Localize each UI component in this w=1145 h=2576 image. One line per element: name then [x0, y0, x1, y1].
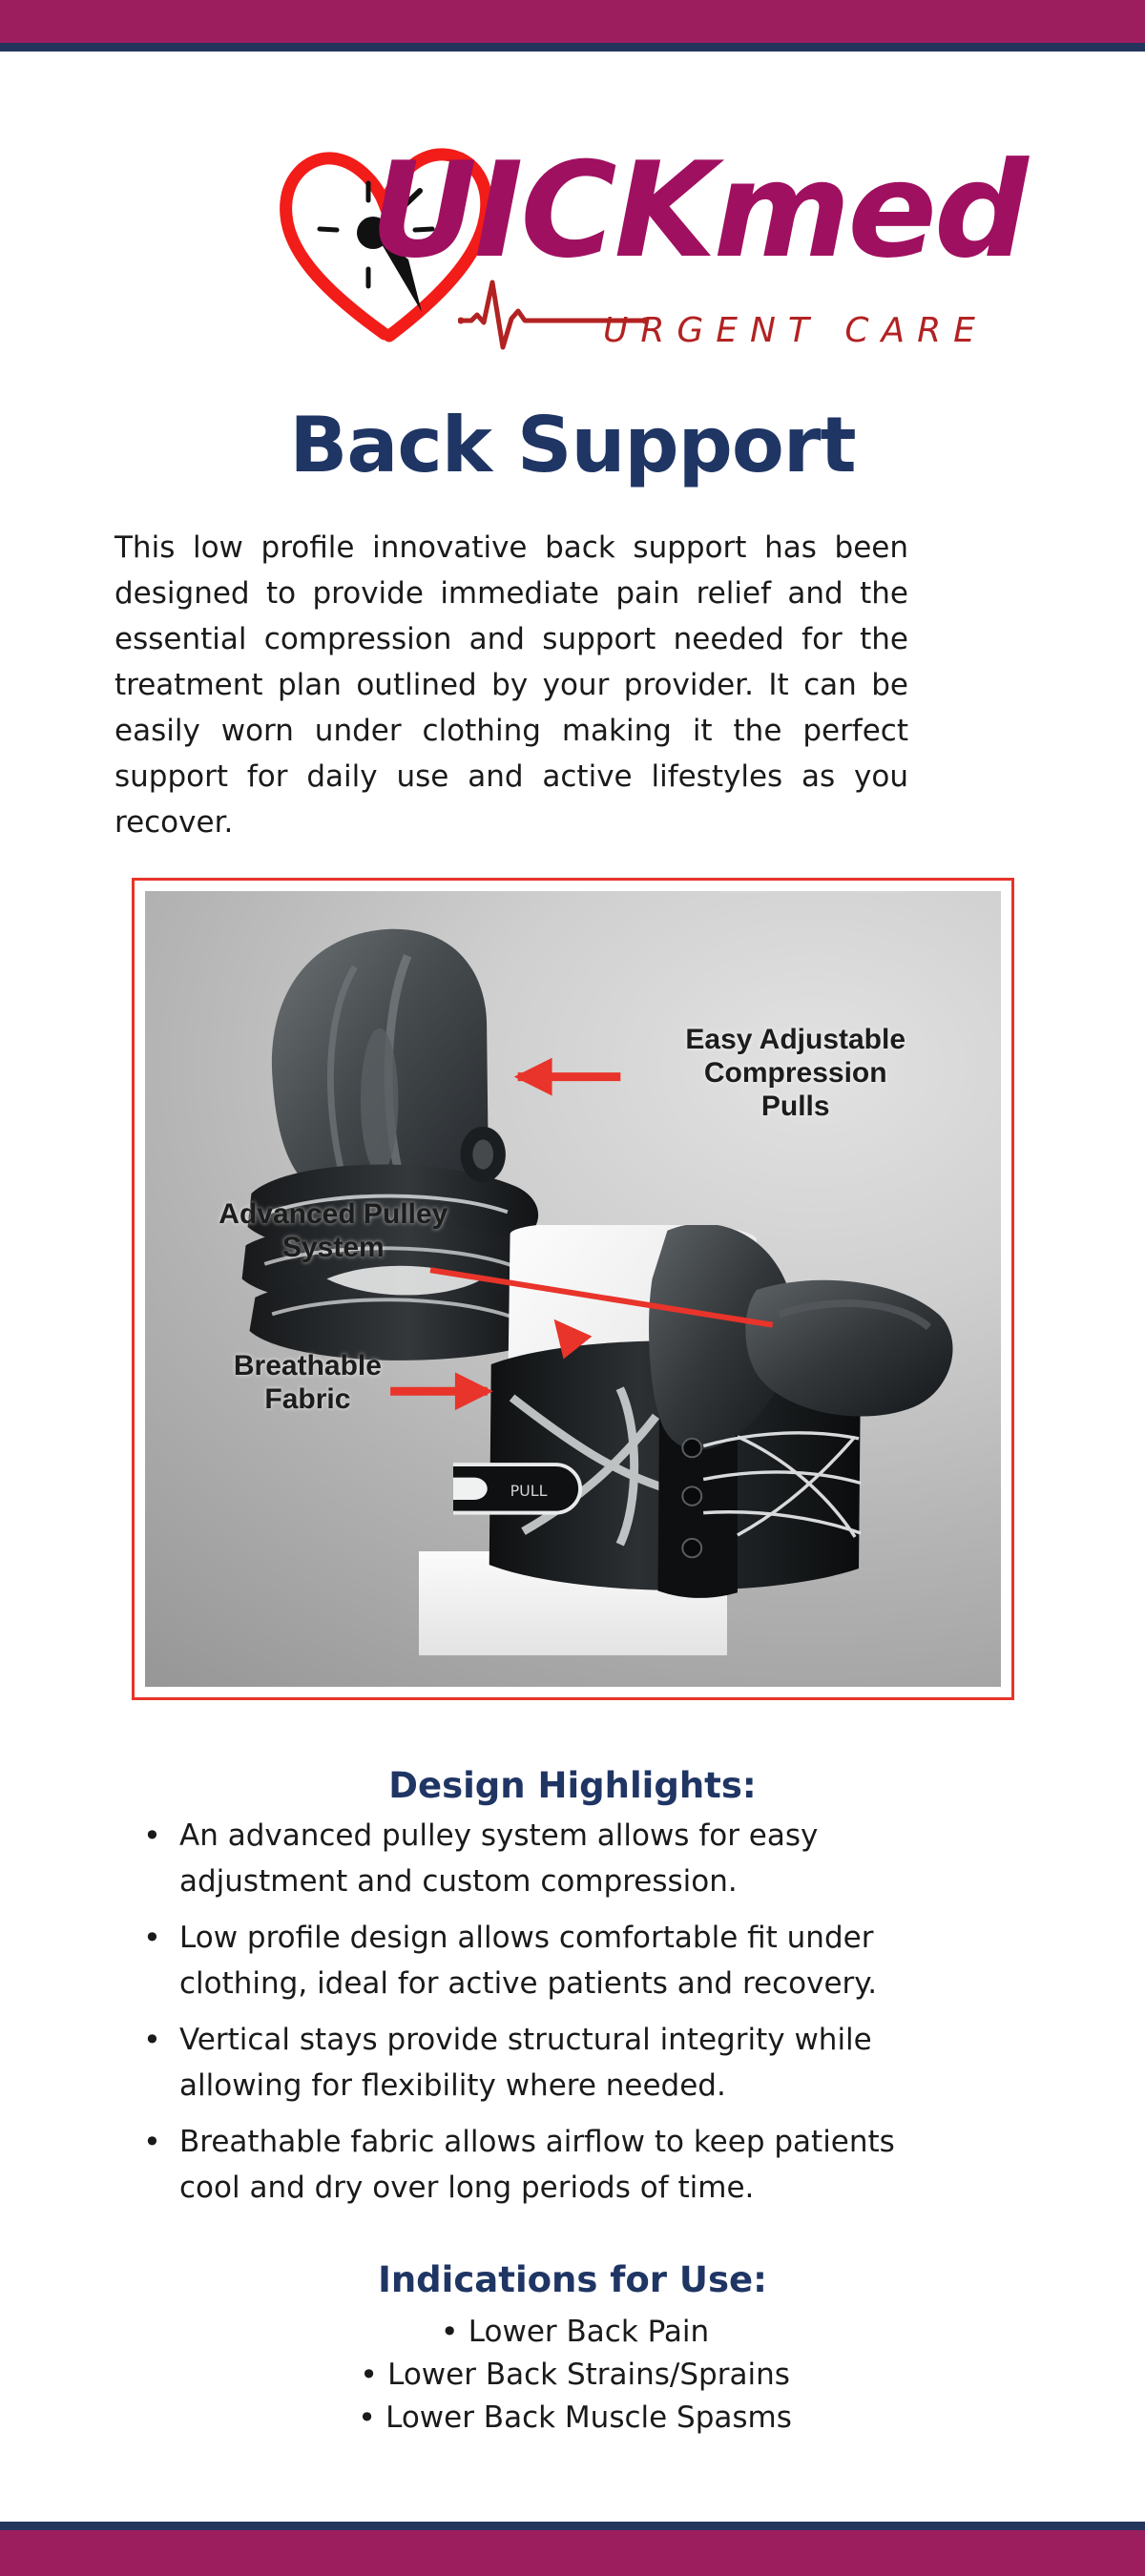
- footer-brand-bar-navy: [0, 2522, 1145, 2530]
- list-item: Low profile design allows comfortable fi…: [134, 1915, 954, 2006]
- logo-wordmark-upper: UICK: [370, 134, 714, 287]
- logo: UICKmed URGENT CARE: [0, 134, 1145, 363]
- product-image: PULL Easy Adjustable Compression Pulls A…: [145, 891, 1001, 1687]
- page-title: Back Support: [0, 401, 1145, 489]
- logo-tagline: URGENT CARE: [603, 311, 988, 350]
- brace-worn-illustration: PULL: [453, 1225, 984, 1671]
- annotation-line: Compression: [704, 1057, 887, 1089]
- footer-brand-bar-magenta: [0, 2530, 1145, 2576]
- list-item-label: Lower Back Pain: [436, 2311, 709, 2354]
- list-item: Lower Back Strains/Sprains: [0, 2354, 1145, 2397]
- product-image-frame: PULL Easy Adjustable Compression Pulls A…: [132, 878, 1014, 1700]
- logo-wordmark: UICKmed: [370, 145, 1026, 277]
- annotation-breathable-fabric: Breathable Fabric: [171, 1349, 445, 1417]
- annotation-line: Easy Adjustable: [685, 1024, 906, 1055]
- design-highlights-list: An advanced pulley system allows for eas…: [134, 1813, 954, 2221]
- list-item-label: Lower Back Muscle Spasms: [353, 2397, 792, 2440]
- design-highlights-heading: Design Highlights:: [0, 1765, 1145, 1806]
- list-item: Breathable fabric allows airflow to keep…: [134, 2119, 954, 2211]
- indications-heading: Indications for Use:: [0, 2259, 1145, 2300]
- header-brand-bar-magenta: [0, 0, 1145, 43]
- list-item-label: Lower Back Strains/Sprains: [355, 2354, 790, 2397]
- header-brand-bar-navy: [0, 43, 1145, 52]
- list-item: An advanced pulley system allows for eas…: [134, 1813, 954, 1904]
- annotation-line: Pulls: [761, 1091, 830, 1122]
- annotation-line: Fabric: [264, 1383, 350, 1415]
- list-item: Lower Back Pain: [0, 2311, 1145, 2354]
- annotation-line: Breathable: [234, 1350, 382, 1381]
- annotation-compression-pulls: Easy Adjustable Compression Pulls: [624, 1023, 967, 1124]
- annotation-line: System: [282, 1232, 385, 1263]
- annotation-pulley-system: Advanced Pulley System: [188, 1197, 479, 1265]
- annotation-line: Advanced Pulley: [219, 1198, 448, 1230]
- list-item: Lower Back Muscle Spasms: [0, 2397, 1145, 2440]
- list-item: Vertical stays provide structural integr…: [134, 2017, 954, 2109]
- svg-text:PULL: PULL: [510, 1483, 547, 1501]
- indications-list: Lower Back Pain Lower Back Strains/Sprai…: [0, 2311, 1145, 2440]
- intro-paragraph: This low profile innovative back support…: [114, 525, 908, 845]
- logo-wordmark-lower: med: [714, 134, 1026, 287]
